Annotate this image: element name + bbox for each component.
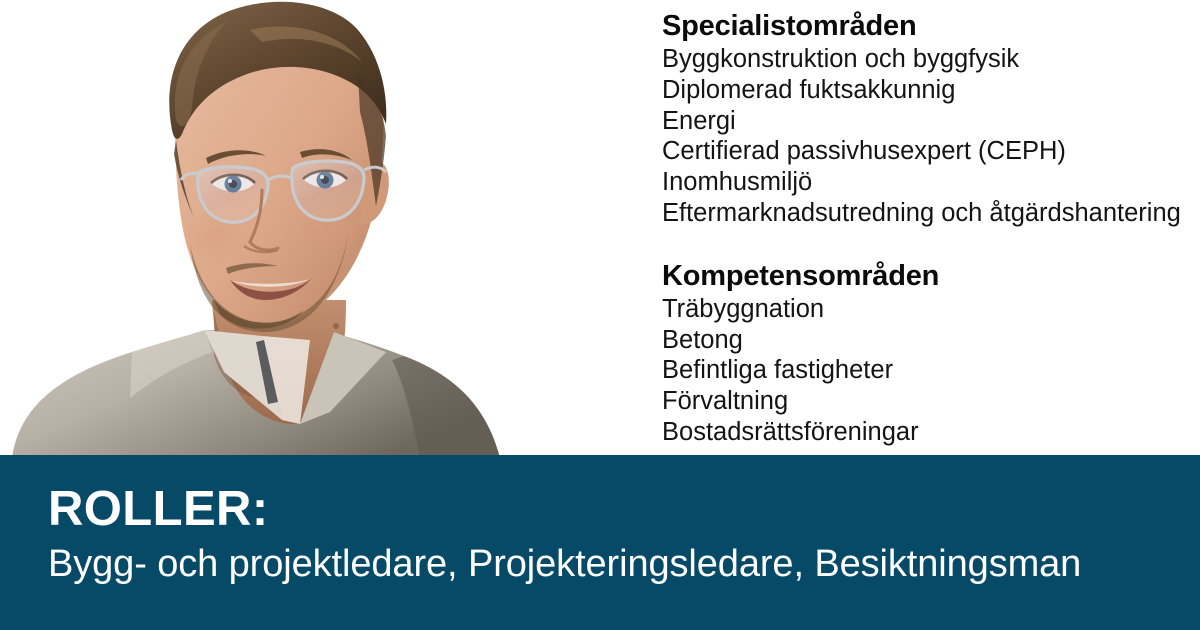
list-item: Inomhusmiljö bbox=[662, 167, 1182, 198]
portrait-illustration bbox=[0, 0, 560, 458]
section-specialist-areas: Specialistområden Byggkonstruktion och b… bbox=[662, 8, 1182, 229]
list-item: Diplomerad fuktsakkunnig bbox=[662, 75, 1182, 106]
list-item: Certifierad passivhusexpert (CEPH) bbox=[662, 136, 1182, 167]
list-item: Energi bbox=[662, 106, 1182, 137]
section-heading-competence-areas: Kompetensområden bbox=[662, 258, 1182, 294]
expertise-column: Specialistområden Byggkonstruktion och b… bbox=[662, 8, 1182, 448]
profile-card: Specialistområden Byggkonstruktion och b… bbox=[0, 0, 1200, 630]
list-item: Träbyggnation bbox=[662, 294, 1182, 325]
roles-banner-content: ROLLER: Bygg- och projektledare, Projekt… bbox=[48, 483, 1188, 587]
list-item: Bostadsrättsföreningar bbox=[662, 417, 1182, 448]
roles-banner: ROLLER: Bygg- och projektledare, Projekt… bbox=[0, 455, 1200, 630]
list-item: Byggkonstruktion och byggfysik bbox=[662, 44, 1182, 75]
list-item: Betong bbox=[662, 325, 1182, 356]
list-item: Befintliga fastigheter bbox=[662, 355, 1182, 386]
portrait-photo bbox=[0, 0, 560, 458]
list-item: Förvaltning bbox=[662, 386, 1182, 417]
competence-areas-list: Träbyggnation Betong Befintliga fastighe… bbox=[662, 294, 1182, 448]
roles-subtitle: Bygg- och projektledare, Projekteringsle… bbox=[48, 541, 1188, 587]
section-competence-areas: Kompetensområden Träbyggnation Betong Be… bbox=[662, 258, 1182, 448]
section-heading-specialist-areas: Specialistområden bbox=[662, 8, 1182, 44]
list-item: Eftermarknadsutredning och åtgärdshanter… bbox=[662, 198, 1182, 229]
mole bbox=[333, 323, 339, 329]
roles-title: ROLLER: bbox=[48, 483, 1188, 535]
specialist-areas-list: Byggkonstruktion och byggfysik Diplomera… bbox=[662, 44, 1182, 229]
